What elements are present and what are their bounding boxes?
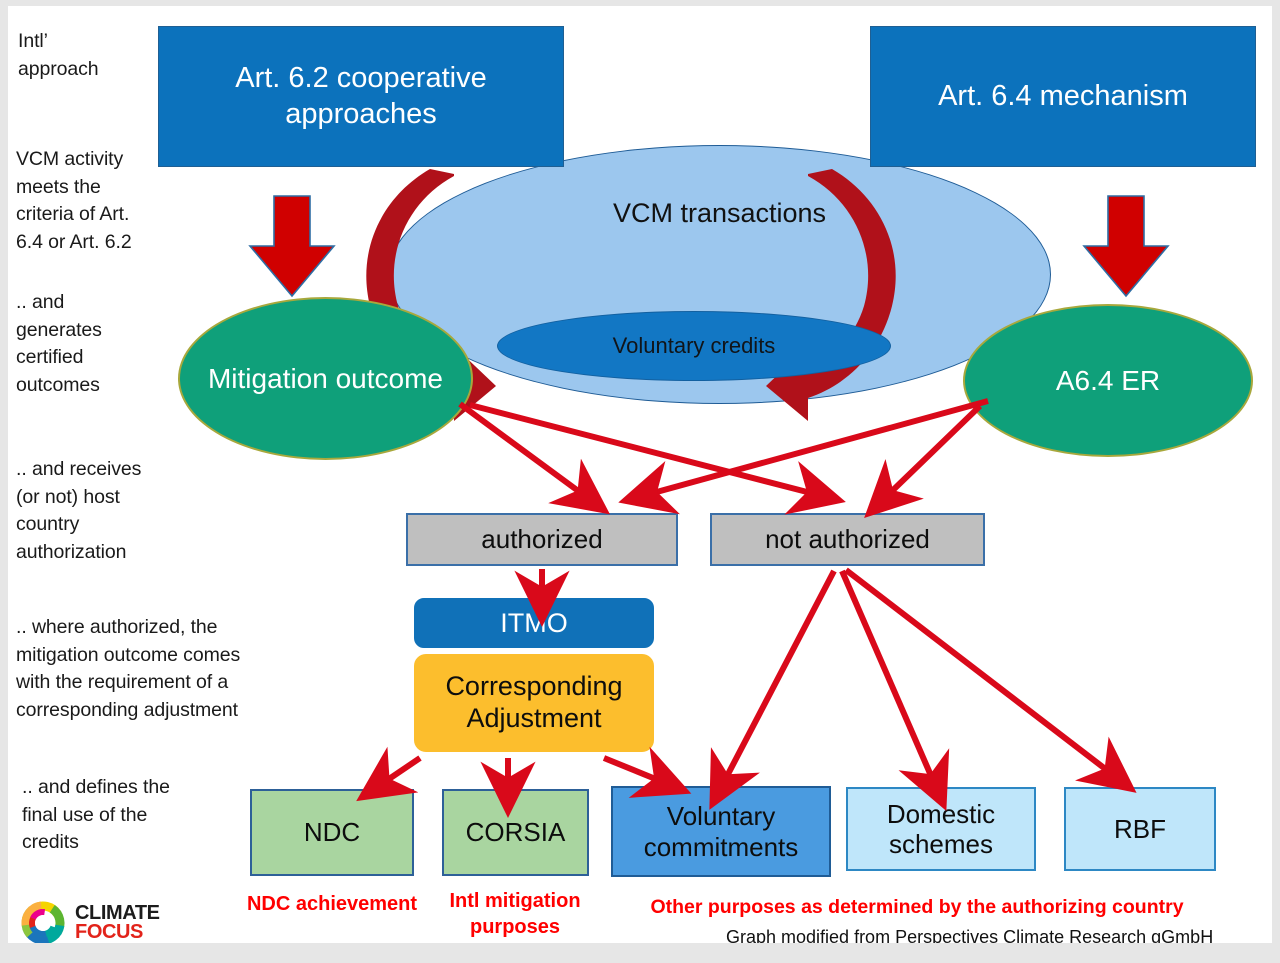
node-corresponding-adjustment[interactable]: Corresponding Adjustment bbox=[414, 654, 654, 752]
side-note-certified-outcomes: .. and generates certified outcomes bbox=[16, 289, 156, 400]
block-arrow-left bbox=[250, 196, 334, 296]
arrow-notauth-to-domestic-schemes bbox=[842, 571, 932, 778]
node-not-authorized-label: not authorized bbox=[765, 524, 930, 555]
arrow-notauth-to-rbf bbox=[846, 570, 1108, 771]
side-note-intl-approach: Intl’ approach bbox=[18, 28, 153, 83]
node-a6-4-er-label: A6.4 ER bbox=[1056, 364, 1160, 398]
node-voluntary-credits-label: Voluntary credits bbox=[613, 333, 776, 359]
node-domestic-schemes-label: Domestic schemes bbox=[854, 799, 1028, 859]
logo-line-focus: FOCUS bbox=[75, 923, 160, 942]
node-ndc-label: NDC bbox=[304, 817, 360, 848]
source-credit-suffix: gGmbH bbox=[1151, 927, 1213, 943]
side-note-vcm-criteria: VCM activity meets the criteria of Art. … bbox=[16, 146, 168, 257]
arrow-a64-to-not-authorized bbox=[890, 406, 980, 493]
arrow-notauth-to-voluntary-commitments bbox=[726, 571, 834, 778]
node-itmo[interactable]: ITMO bbox=[414, 598, 654, 648]
slide-canvas: Art. 6.2 cooperative approaches Art. 6.4… bbox=[0, 0, 1280, 963]
node-corsia[interactable]: CORSIA bbox=[442, 789, 589, 876]
node-rbf-label: RBF bbox=[1114, 814, 1166, 844]
node-art-6-2[interactable]: Art. 6.2 cooperative approaches bbox=[158, 26, 564, 167]
node-art-6-4-label: Art. 6.4 mechanism bbox=[938, 79, 1188, 114]
caption-other-purposes: Other purposes as determined by the auth… bbox=[610, 895, 1224, 920]
side-note-final-use: .. and defines the final use of the cred… bbox=[22, 774, 212, 857]
climate-focus-wordmark: CLIMATE FOCUS bbox=[75, 904, 160, 942]
node-not-authorized[interactable]: not authorized bbox=[710, 513, 985, 566]
node-authorized-label: authorized bbox=[481, 524, 602, 555]
node-voluntary-commitments[interactable]: Voluntary commitments bbox=[611, 786, 831, 877]
climate-focus-ring-icon bbox=[18, 898, 68, 943]
block-arrow-right bbox=[1084, 196, 1168, 296]
node-art-6-4[interactable]: Art. 6.4 mechanism bbox=[870, 26, 1256, 167]
node-voluntary-credits[interactable]: Voluntary credits bbox=[497, 311, 891, 381]
side-note-host-authorization: .. and receives (or not) host country au… bbox=[16, 456, 176, 567]
caption-intl-mitigation-purposes: Intl mitigation purposes bbox=[426, 889, 604, 940]
node-mitigation-outcome-label: Mitigation outcome bbox=[208, 362, 443, 396]
arrow-a64-to-authorized bbox=[653, 401, 988, 493]
node-vcm-transactions-label: VCM transactions bbox=[389, 198, 1050, 229]
node-art-6-2-label: Art. 6.2 cooperative approaches bbox=[159, 61, 563, 132]
node-mitigation-outcome[interactable]: Mitigation outcome bbox=[178, 297, 473, 460]
arrow-ca-to-ndc bbox=[386, 758, 420, 781]
logo-ring-icon bbox=[18, 898, 68, 943]
node-authorized[interactable]: authorized bbox=[406, 513, 678, 566]
side-note-corresponding-adjustment: .. where authorized, the mitigation outc… bbox=[16, 614, 304, 725]
node-voluntary-commitments-label: Voluntary commitments bbox=[619, 801, 823, 861]
node-corsia-label: CORSIA bbox=[466, 817, 566, 848]
arrow-mitigation-to-not-authorized bbox=[470, 405, 811, 493]
source-credit-prefix: Graph modified from Perspectives Climate… bbox=[726, 927, 1151, 943]
node-ndc[interactable]: NDC bbox=[250, 789, 414, 876]
node-corresponding-adjustment-label: Corresponding Adjustment bbox=[423, 671, 645, 735]
node-rbf[interactable]: RBF bbox=[1064, 787, 1216, 871]
caption-ndc-achievement: NDC achievement bbox=[244, 892, 420, 918]
arrow-mitigation-to-authorized bbox=[460, 404, 581, 493]
arrow-ca-to-voluntary-commitments bbox=[604, 758, 658, 780]
source-credit: Graph modified from Perspectives Climate… bbox=[726, 927, 1213, 943]
node-domestic-schemes[interactable]: Domestic schemes bbox=[846, 787, 1036, 871]
node-itmo-label: ITMO bbox=[500, 608, 568, 639]
node-a6-4-er[interactable]: A6.4 ER bbox=[963, 304, 1253, 457]
climate-focus-logo: CLIMATE FOCUS bbox=[18, 898, 160, 943]
diagram-area: Art. 6.2 cooperative approaches Art. 6.4… bbox=[8, 6, 1272, 943]
